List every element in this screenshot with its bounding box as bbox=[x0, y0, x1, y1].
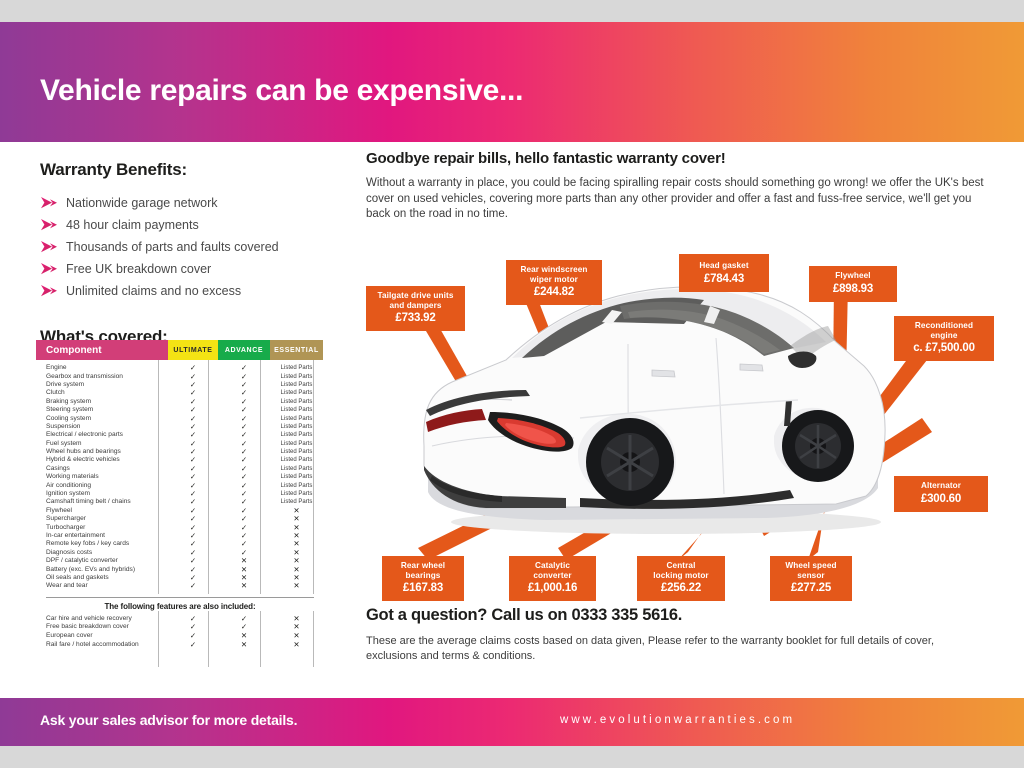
column-header-advance: ADVANCE bbox=[218, 340, 270, 360]
callout-label: Centrallocking motor bbox=[646, 561, 716, 580]
table-row: Gearbox and transmission✓✓Listed Parts bbox=[36, 372, 324, 380]
row-component-name: Clutch bbox=[36, 389, 168, 397]
table-row: Cooling system✓✓Listed Parts bbox=[36, 414, 324, 422]
table-body: Engine✓✓Listed PartsGearbox and transmis… bbox=[36, 360, 324, 591]
table-row: Wear and tear✓✕✕ bbox=[36, 582, 324, 590]
table-row: Air conditioning✓✓Listed Parts bbox=[36, 481, 324, 489]
row-component-name: Gearbox and transmission bbox=[36, 373, 168, 381]
row-essential-mark: Listed Parts bbox=[270, 373, 323, 381]
row-component-name: Engine bbox=[36, 364, 168, 372]
callout-price: £784.43 bbox=[688, 273, 760, 286]
row-component-name: Cooling system bbox=[36, 415, 168, 423]
intro-body: Without a warranty in place, you could b… bbox=[366, 176, 991, 223]
callout-wheel-speed-sensor: Wheel speedsensor £277.25 bbox=[770, 556, 852, 601]
content-sheet: Warranty Benefits: Nationwide garage net… bbox=[0, 142, 1024, 698]
row-essential-mark: Listed Parts bbox=[270, 448, 323, 456]
callout-label: Alternator bbox=[903, 481, 979, 491]
row-essential-mark: Listed Parts bbox=[270, 465, 323, 473]
row-essential-mark: Listed Parts bbox=[270, 406, 323, 414]
table-row: Ignition system✓✓Listed Parts bbox=[36, 490, 324, 498]
callout-wiper-motor: Rear windscreenwiper motor £244.82 bbox=[506, 260, 602, 305]
callout-price: £256.22 bbox=[646, 582, 716, 595]
row-component-name: Supercharger bbox=[36, 515, 168, 523]
arrow-right-icon bbox=[40, 196, 58, 210]
callout-catalytic-converter: Catalyticconverter £1,000.16 bbox=[509, 556, 596, 601]
extras-title: The following features are also included… bbox=[36, 602, 324, 611]
column-divider bbox=[260, 360, 261, 594]
callout-price: £167.83 bbox=[391, 582, 455, 595]
row-component-name: Electrical / electronic parts bbox=[36, 431, 168, 439]
callout-price: £244.82 bbox=[515, 286, 593, 299]
column-divider bbox=[208, 611, 209, 667]
row-component-name: Ignition system bbox=[36, 490, 168, 498]
column-header-essential: ESSENTIAL bbox=[270, 340, 323, 360]
row-essential-mark: Listed Parts bbox=[270, 423, 323, 431]
row-component-name: Turbocharger bbox=[36, 524, 168, 532]
row-component-name: Steering system bbox=[36, 406, 168, 414]
arrow-right-icon bbox=[40, 218, 58, 232]
table-row: Suspension✓✓Listed Parts bbox=[36, 423, 324, 431]
cta-title: Got a question? Call us on 0333 335 5616… bbox=[366, 606, 986, 625]
row-essential-mark: ✕ bbox=[270, 582, 323, 590]
row-feature-name: Free basic breakdown cover bbox=[36, 623, 168, 631]
row-essential-mark: Listed Parts bbox=[270, 482, 323, 490]
callout-label: Rear wheelbearings bbox=[391, 561, 455, 580]
row-essential-mark: Listed Parts bbox=[270, 440, 323, 448]
table-row: Supercharger✓✓✕ bbox=[36, 515, 324, 523]
benefit-label: Free UK breakdown cover bbox=[66, 262, 211, 276]
column-divider bbox=[158, 360, 159, 594]
right-column: Goodbye repair bills, hello fantastic wa… bbox=[366, 150, 991, 223]
row-advance-mark: ✕ bbox=[218, 641, 270, 649]
row-essential-mark: Listed Parts bbox=[270, 490, 323, 498]
table-row: Diagnosis costs✓✓✕ bbox=[36, 549, 324, 557]
table-row: Remote key fobs / key cards✓✓✕ bbox=[36, 540, 324, 548]
callout-recon-engine: Reconditionedengine c. £7,500.00 bbox=[894, 316, 994, 361]
extras-row: Rail fare / hotel accommodation✓✕✕ bbox=[36, 640, 324, 649]
table-row: Flywheel✓✓✕ bbox=[36, 507, 324, 515]
table-header-row: Component ULTIMATE ADVANCE ESSENTIAL bbox=[36, 340, 324, 360]
table-row: Wheel hubs and bearings✓✓Listed Parts bbox=[36, 448, 324, 456]
row-component-name: Wheel hubs and bearings bbox=[36, 448, 168, 456]
row-feature-name: Car hire and vehicle recovery bbox=[36, 615, 168, 623]
callout-central-locking: Centrallocking motor £256.22 bbox=[637, 556, 725, 601]
arrow-right-icon bbox=[40, 262, 58, 276]
table-row: Steering system✓✓Listed Parts bbox=[36, 406, 324, 414]
extras-row: European cover✓✕✕ bbox=[36, 632, 324, 641]
callout-price: £1,000.16 bbox=[518, 582, 587, 595]
row-essential-mark: Listed Parts bbox=[270, 415, 323, 423]
row-essential-mark: Listed Parts bbox=[270, 389, 323, 397]
row-component-name: Casings bbox=[36, 465, 168, 473]
column-divider bbox=[208, 360, 209, 594]
table-row: Fuel system✓✓Listed Parts bbox=[36, 440, 324, 448]
row-component-name: Working materials bbox=[36, 473, 168, 481]
column-divider bbox=[260, 611, 261, 667]
row-essential-mark: Listed Parts bbox=[270, 473, 323, 481]
column-divider bbox=[313, 611, 314, 667]
table-row: DPF / catalytic converter✓✕✕ bbox=[36, 557, 324, 565]
table-row: Engine✓✓Listed Parts bbox=[36, 364, 324, 372]
row-component-name: Oil seals and gaskets bbox=[36, 574, 168, 582]
table-row: Braking system✓✓Listed Parts bbox=[36, 398, 324, 406]
row-component-name: Drive system bbox=[36, 381, 168, 389]
table-row: In-car entertainment✓✓✕ bbox=[36, 532, 324, 540]
callout-flywheel: Flywheel £898.93 bbox=[809, 266, 897, 302]
row-component-name: Air conditioning bbox=[36, 482, 168, 490]
extras-row: Car hire and vehicle recovery✓✓✕ bbox=[36, 615, 324, 624]
row-component-name: Hybrid & electric vehicles bbox=[36, 456, 168, 464]
callout-label: Head gasket bbox=[688, 261, 760, 271]
benefit-item-1: 48 hour claim payments bbox=[40, 214, 330, 235]
row-component-name: Wear and tear bbox=[36, 582, 168, 590]
car-body bbox=[424, 287, 885, 534]
column-header-component: Component bbox=[36, 340, 168, 360]
table-row: Working materials✓✓Listed Parts bbox=[36, 473, 324, 481]
row-essential-mark: Listed Parts bbox=[270, 364, 323, 372]
row-component-name: Battery (exc. EVs and hybrids) bbox=[36, 566, 168, 574]
benefit-label: Thousands of parts and faults covered bbox=[66, 240, 279, 254]
row-component-name: Camshaft timing belt / chains bbox=[36, 498, 168, 506]
benefit-item-3: Free UK breakdown cover bbox=[40, 258, 330, 279]
benefits-list: Nationwide garage network48 hour claim p… bbox=[40, 192, 330, 301]
column-divider bbox=[158, 611, 159, 667]
benefit-item-2: Thousands of parts and faults covered bbox=[40, 236, 330, 257]
row-component-name: Diagnosis costs bbox=[36, 549, 168, 557]
poster-root: Vehicle repairs can be expensive... Warr… bbox=[0, 0, 1024, 768]
callout-price: £277.25 bbox=[779, 582, 843, 595]
cta-block: Got a question? Call us on 0333 335 5616… bbox=[366, 606, 986, 664]
benefits-heading: Warranty Benefits: bbox=[40, 160, 330, 180]
row-component-name: In-car entertainment bbox=[36, 532, 168, 540]
row-essential-mark: Listed Parts bbox=[270, 381, 323, 389]
table-row: Clutch✓✓Listed Parts bbox=[36, 389, 324, 397]
vehicle-diagram: Tailgate drive unitsand dampers £733.92 … bbox=[366, 260, 994, 590]
footer-tagline: Ask your sales advisor for more details. bbox=[40, 712, 297, 728]
callout-price: £733.92 bbox=[375, 312, 456, 325]
table-row: Camshaft timing belt / chains✓✓Listed Pa… bbox=[36, 498, 324, 506]
row-component-name: Remote key fobs / key cards bbox=[36, 540, 168, 548]
callout-head-gasket: Head gasket £784.43 bbox=[679, 254, 769, 292]
benefit-item-0: Nationwide garage network bbox=[40, 192, 330, 213]
row-essential-mark: ✕ bbox=[270, 641, 323, 649]
callout-tailgate: Tailgate drive unitsand dampers £733.92 bbox=[366, 286, 465, 331]
callout-label: Wheel speedsensor bbox=[779, 561, 843, 580]
callout-label: Catalyticconverter bbox=[518, 561, 587, 580]
table-row: Hybrid & electric vehicles✓✓Listed Parts bbox=[36, 456, 324, 464]
row-component-name: DPF / catalytic converter bbox=[36, 557, 168, 565]
footer-banner: Ask your sales advisor for more details.… bbox=[0, 698, 1024, 746]
callout-label: Tailgate drive unitsand dampers bbox=[375, 291, 456, 310]
extras-body: Car hire and vehicle recovery✓✓✕Free bas… bbox=[36, 611, 324, 649]
row-ultimate-mark: ✓ bbox=[168, 582, 218, 590]
table-row: Oil seals and gaskets✓✕✕ bbox=[36, 574, 324, 582]
benefit-item-4: Unlimited claims and no excess bbox=[40, 280, 330, 301]
benefit-label: Unlimited claims and no excess bbox=[66, 284, 241, 298]
row-feature-name: European cover bbox=[36, 632, 168, 640]
callout-price: £898.93 bbox=[818, 283, 888, 296]
left-column: Warranty Benefits: Nationwide garage net… bbox=[40, 160, 330, 347]
callout-price: £300.60 bbox=[903, 493, 979, 506]
section-divider bbox=[46, 597, 314, 598]
table-row: Drive system✓✓Listed Parts bbox=[36, 381, 324, 389]
row-component-name: Fuel system bbox=[36, 440, 168, 448]
page-title: Vehicle repairs can be expensive... bbox=[40, 74, 523, 108]
cta-note: These are the average claims costs based… bbox=[366, 634, 986, 664]
arrow-right-icon bbox=[40, 240, 58, 254]
coverage-table: Component ULTIMATE ADVANCE ESSENTIAL Eng… bbox=[36, 340, 324, 649]
callout-alternator: Alternator £300.60 bbox=[894, 476, 988, 512]
row-ultimate-mark: ✓ bbox=[168, 641, 218, 649]
table-row: Casings✓✓Listed Parts bbox=[36, 465, 324, 473]
benefit-label: Nationwide garage network bbox=[66, 196, 217, 210]
callout-label: Rear windscreenwiper motor bbox=[515, 265, 593, 284]
row-essential-mark: Listed Parts bbox=[270, 456, 323, 464]
row-advance-mark: ✕ bbox=[218, 582, 270, 590]
table-row: Battery (exc. EVs and hybrids)✓✕✕ bbox=[36, 565, 324, 573]
row-essential-mark: Listed Parts bbox=[270, 431, 323, 439]
arrow-right-icon bbox=[40, 284, 58, 298]
header-banner: Vehicle repairs can be expensive... bbox=[0, 22, 1024, 142]
extras-row: Free basic breakdown cover✓✓✕ bbox=[36, 623, 324, 632]
callout-label: Reconditionedengine bbox=[903, 321, 985, 340]
row-component-name: Flywheel bbox=[36, 507, 168, 515]
column-header-ultimate: ULTIMATE bbox=[168, 340, 218, 360]
row-component-name: Braking system bbox=[36, 398, 168, 406]
table-row: Electrical / electronic parts✓✓Listed Pa… bbox=[36, 431, 324, 439]
row-component-name: Suspension bbox=[36, 423, 168, 431]
callout-rear-wheel-bearings: Rear wheelbearings £167.83 bbox=[382, 556, 464, 601]
row-essential-mark: Listed Parts bbox=[270, 398, 323, 406]
column-divider bbox=[313, 360, 314, 594]
table-row: Turbocharger✓✓✕ bbox=[36, 523, 324, 531]
intro-heading: Goodbye repair bills, hello fantastic wa… bbox=[366, 150, 991, 167]
benefit-label: 48 hour claim payments bbox=[66, 218, 199, 232]
callout-price: c. £7,500.00 bbox=[903, 342, 985, 355]
row-feature-name: Rail fare / hotel accommodation bbox=[36, 641, 168, 649]
callout-label: Flywheel bbox=[818, 271, 888, 281]
footer-website[interactable]: www.evolutionwarranties.com bbox=[560, 714, 795, 726]
